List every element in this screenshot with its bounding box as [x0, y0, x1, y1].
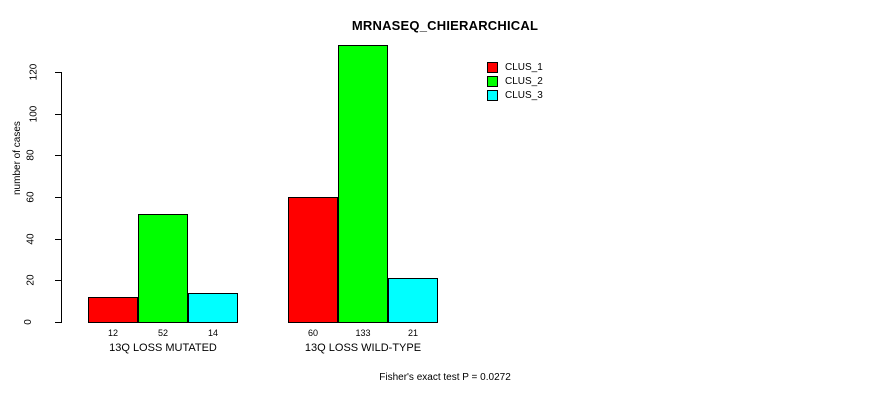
bar-value-label: 12 — [88, 328, 138, 338]
bar-value-label: 133 — [338, 328, 388, 338]
y-axis-tick — [55, 155, 61, 156]
legend: CLUS_1CLUS_2CLUS_3 — [487, 60, 543, 102]
legend-label: CLUS_3 — [505, 90, 543, 101]
bar-value-label: 60 — [288, 328, 338, 338]
bar-value-label: 52 — [138, 328, 188, 338]
legend-color-swatch — [487, 62, 498, 73]
bar-clus_1 — [288, 197, 338, 323]
y-axis-line — [61, 72, 62, 323]
legend-label: CLUS_1 — [505, 62, 543, 73]
plot-area: 020406080100120 number of cases 12521460… — [0, 0, 890, 400]
y-axis-tick — [55, 72, 61, 73]
y-axis-title: number of cases — [12, 121, 23, 195]
group-label: 13Q LOSS WILD-TYPE — [288, 342, 438, 354]
bar-value-label: 21 — [388, 328, 438, 338]
statistical-annotation: Fisher's exact test P = 0.0272 — [0, 372, 890, 383]
bar-clus_2 — [138, 214, 188, 323]
legend-item: CLUS_1 — [487, 60, 543, 74]
legend-color-swatch — [487, 90, 498, 101]
legend-label: CLUS_2 — [505, 76, 543, 87]
legend-item: CLUS_3 — [487, 88, 543, 102]
bar-clus_3 — [388, 278, 438, 323]
bar-value-label: 14 — [188, 328, 238, 338]
group-label: 13Q LOSS MUTATED — [88, 342, 238, 354]
bar-clus_1 — [88, 297, 138, 323]
y-axis-tick — [55, 239, 61, 240]
legend-color-swatch — [487, 76, 498, 87]
bar-chart-figure: MRNASEQ_CHIERARCHICAL 020406080100120 nu… — [0, 0, 890, 400]
bar-clus_2 — [338, 45, 388, 323]
y-axis-tick — [55, 280, 61, 281]
y-axis-tick — [55, 322, 61, 323]
bar-clus_3 — [188, 293, 238, 323]
y-axis-tick — [55, 197, 61, 198]
y-axis-tick — [55, 114, 61, 115]
legend-item: CLUS_2 — [487, 74, 543, 88]
